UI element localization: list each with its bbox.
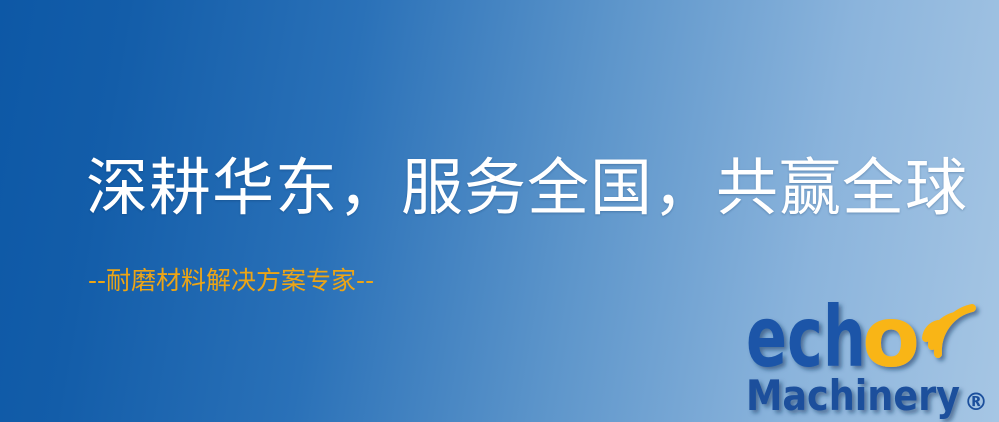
- promo-banner: 深耕华东，服务全国，共赢全球 --耐磨材料解决方案专家-- ech o Mach…: [0, 0, 999, 422]
- subtitle-tagline: --耐磨材料解决方案专家--: [88, 265, 374, 297]
- echo-wave-icon: [926, 308, 972, 354]
- page-title: 深耕华东，服务全国，共赢全球: [86, 153, 968, 223]
- echo-machinery-logo: ech o Machinery ®: [744, 294, 999, 422]
- logo-wordmark-machinery: Machinery: [746, 371, 960, 420]
- logo-registered-trademark: ®: [964, 388, 988, 416]
